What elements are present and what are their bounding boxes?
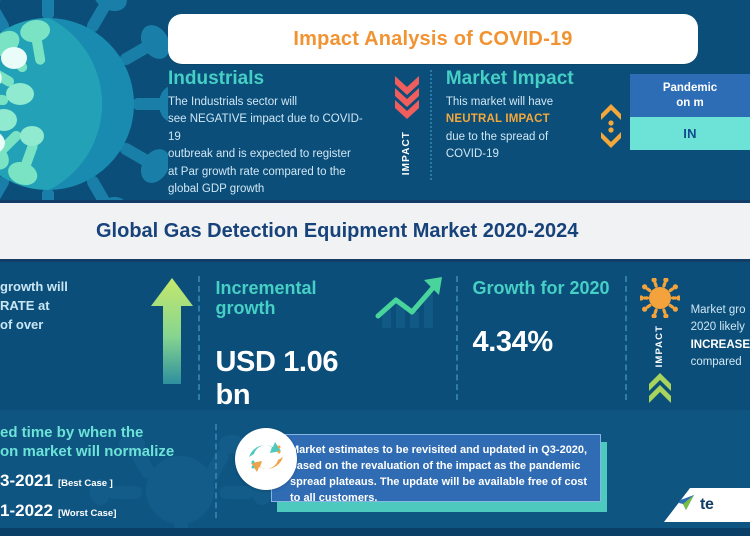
bottom-rule — [0, 528, 750, 536]
worst-case-period: 1-2022 — [0, 501, 53, 520]
coronavirus-illustration — [0, 0, 168, 200]
incremental-label-line-1: Incremental — [216, 278, 366, 298]
cagr-line-3: of over — [0, 316, 146, 335]
brand-logo-text: te — [700, 496, 714, 514]
note-line-4: to all customers. — [290, 490, 590, 506]
industrials-card: Industrials The Industrials sector will … — [168, 68, 383, 199]
metrics-divider-3 — [625, 276, 627, 400]
page-title: Impact Analysis of COVID-19 — [293, 28, 572, 51]
market-impact-body: This market will have NEUTRAL IMPACT due… — [446, 94, 592, 164]
impact-text-line-2: 2020 likely — [691, 319, 750, 336]
impact-text-line-4: compared — [691, 354, 750, 371]
pandemic-box-header: Pandemic on m — [630, 74, 750, 117]
growth-2020-card: Growth for 2020 4.34% — [456, 262, 624, 410]
metrics-band: growth will RATE at of over — [0, 262, 750, 410]
refresh-cycle-icon — [244, 435, 288, 484]
infographic-root: Impact Analysis of COVID-19 Industrials … — [0, 0, 750, 536]
updown-indicator — [592, 68, 630, 155]
cagr-text: growth will RATE at of over — [0, 278, 146, 335]
up-down-chevron-icon — [598, 102, 624, 155]
incremental-growth-value: USD 1.06 bn — [216, 346, 366, 412]
industrials-heading: Industrials — [168, 68, 375, 90]
market-impact-line-4: COVID-19 — [446, 146, 592, 163]
trending-up-chart-icon — [372, 272, 450, 337]
note-line-1: Market estimates to be revisited and upd… — [290, 442, 590, 458]
market-impact-heading: Market Impact — [446, 68, 592, 90]
note-line-3: spread plateaus. The update will be avai… — [290, 474, 590, 490]
impact-vertical-label: IMPACT — [401, 131, 412, 175]
triple-chevron-down-icon — [392, 74, 422, 125]
normalization-heading-line-1: ed time by when the — [0, 424, 215, 443]
refresh-badge — [235, 428, 297, 490]
trend-icon-holder — [366, 262, 457, 410]
market-growth-impact-text: Market gro 2020 likely INCREASE compared — [685, 278, 750, 410]
cagr-line-1: growth will — [0, 278, 146, 297]
growth-arrow-holder — [146, 262, 197, 410]
worst-case-label: [Worst Case] — [58, 508, 116, 519]
incremental-growth-label: Incremental growth — [216, 278, 366, 318]
normalization-heading-line-2: on market will normalize — [0, 443, 215, 462]
industrials-negative-text: see NEGATIVE — [168, 113, 247, 125]
growth-2020-value: 4.34% — [472, 326, 624, 359]
industrials-line-1: The Industrials sector will — [168, 94, 375, 111]
industrials-line-5: global GDP growth — [168, 181, 375, 198]
industrials-line-2: see NEGATIVE impact due to COVID-19 — [168, 111, 375, 146]
impact-text-line-1: Market gro — [691, 302, 750, 319]
bottom-content: ed time by when the on market will norma… — [0, 410, 750, 536]
page-title-plate: Impact Analysis of COVID-19 — [168, 14, 698, 64]
market-impact-card: Market Impact This market will have NEUT… — [432, 68, 592, 164]
normalization-card: ed time by when the on market will norma… — [0, 410, 215, 536]
pandemic-box-value: IN — [630, 117, 750, 150]
cagr-line-2: RATE at — [0, 297, 146, 316]
metrics-divider-1 — [198, 276, 200, 400]
market-growth-impact-card: IMPACT Market gro 2020 likely INCREASE c… — [625, 262, 750, 410]
impact-indicator-negative: IMPACT — [383, 68, 429, 175]
impact-vertical-label-positive: IMPACT — [654, 325, 665, 367]
pandemic-impact-card: Pandemic on m IN — [630, 68, 750, 150]
impact-text-line-3: INCREASE — [691, 337, 750, 354]
top-impact-band: Impact Analysis of COVID-19 Industrials … — [0, 0, 750, 200]
market-impact-line-1: This market will have — [446, 94, 592, 111]
neutral-impact-text: NEUTRAL IMPACT — [446, 113, 550, 125]
growth-2020-label: Growth for 2020 — [472, 278, 624, 298]
incremental-label-line-2: growth — [216, 298, 366, 318]
arrow-up-icon — [149, 274, 195, 391]
bottom-band: ed time by when the on market will norma… — [0, 410, 750, 536]
note-box: Market estimates to be revisited and upd… — [271, 434, 601, 502]
pandemic-head-line-2: on m — [636, 96, 744, 111]
normalization-heading: ed time by when the on market will norma… — [0, 424, 215, 461]
report-title: Global Gas Detection Equipment Market 20… — [0, 220, 578, 243]
industrials-line-3: outbreak and is expected to register — [168, 146, 375, 163]
increase-text: INCREASE — [691, 339, 750, 351]
report-title-bar: Global Gas Detection Equipment Market 20… — [0, 200, 750, 262]
best-case-label: [Best Case ] — [58, 478, 113, 489]
pandemic-box: Pandemic on m IN — [630, 74, 750, 150]
case-row-worst: 1-2022[Worst Case] — [0, 501, 215, 521]
industrials-body: The Industrials sector will see NEGATIVE… — [168, 94, 375, 199]
double-chevron-up-icon — [647, 370, 673, 409]
note-line-2: based on the revaluation of the impact a… — [290, 458, 590, 474]
incremental-growth-card: Incremental growth USD 1.06 bn — [198, 262, 366, 410]
pandemic-head-line-1: Pandemic — [636, 81, 744, 96]
metrics-divider-2 — [456, 276, 458, 400]
case-row-best: 3-2021[Best Case ] — [0, 471, 215, 491]
virus-icon — [640, 278, 680, 323]
industrials-line-4: at Par growth rate compared to the — [168, 164, 375, 181]
market-impact-line-3: due to the spread of — [446, 129, 592, 146]
best-case-period: 3-2021 — [0, 471, 53, 490]
top-columns: Industrials The Industrials sector will … — [168, 68, 750, 193]
market-impact-emphasis: NEUTRAL IMPACT — [446, 111, 592, 128]
cagr-card: growth will RATE at of over — [0, 262, 146, 410]
impact-indicator-positive: IMPACT — [635, 278, 685, 410]
